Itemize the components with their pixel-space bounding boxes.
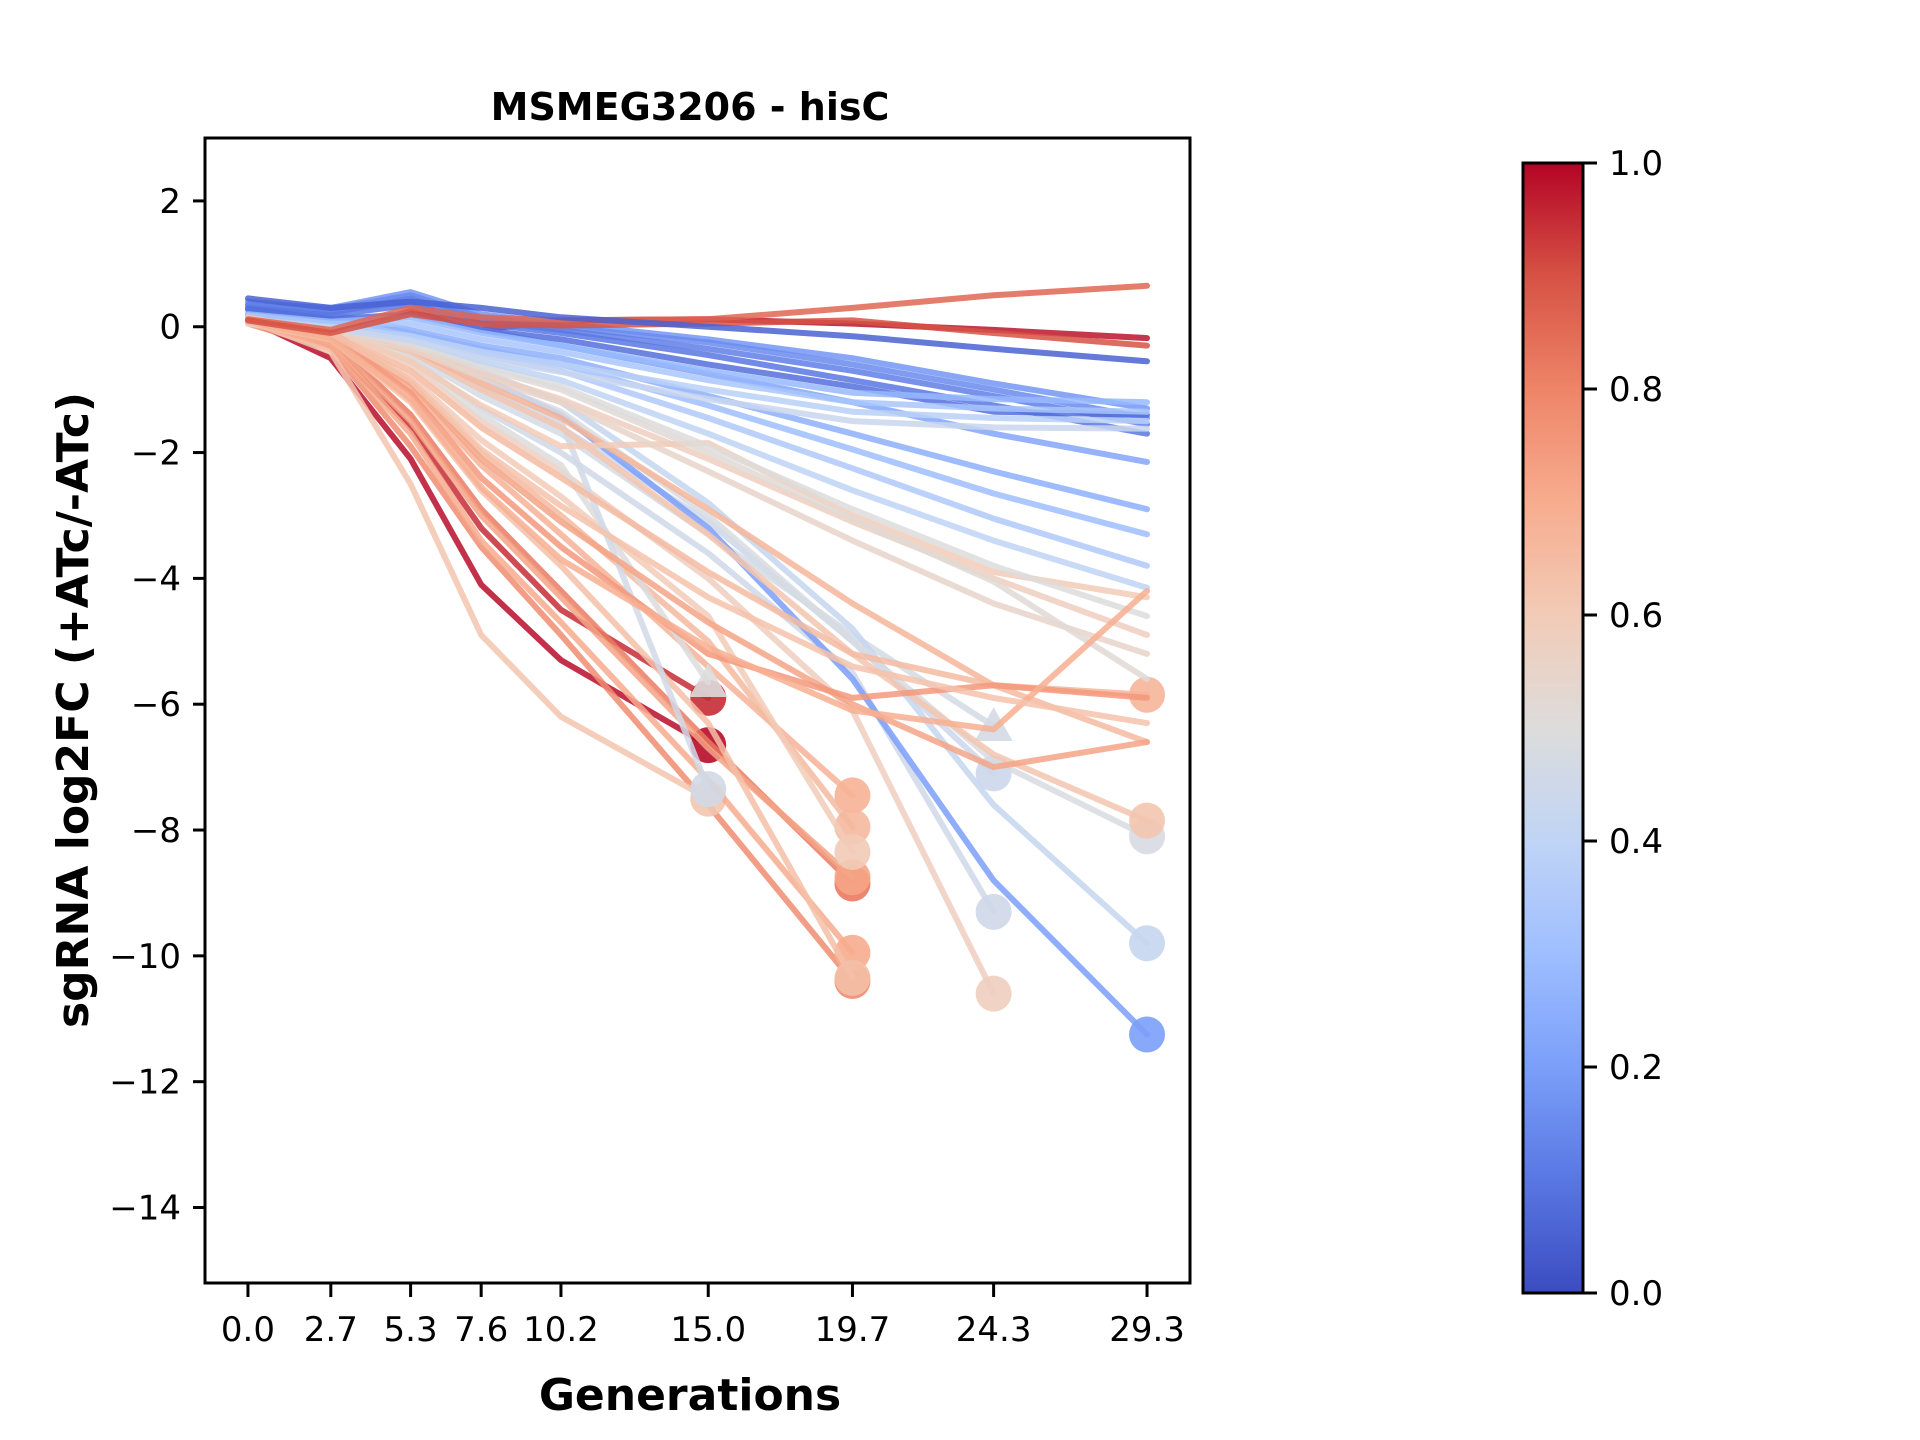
series-endpoint-circle-marker xyxy=(1129,803,1165,839)
series-endpoint-circle-marker xyxy=(976,976,1012,1012)
series-endpoint-circle-marker xyxy=(690,771,726,807)
x-tick-label: 7.6 xyxy=(454,1310,508,1350)
x-axis-label: Generations xyxy=(539,1370,841,1421)
y-tick-label: 0 xyxy=(159,308,181,348)
series-endpoint-circle-marker xyxy=(1129,925,1165,961)
colorbar-tick-label: 0.8 xyxy=(1609,370,1663,410)
x-tick-label: 24.3 xyxy=(956,1310,1032,1350)
colorbar-tick-label: 0.0 xyxy=(1609,1274,1663,1314)
colorbar-gradient xyxy=(1523,163,1583,1293)
colorbar-tick-label: 1.0 xyxy=(1609,144,1663,184)
series-endpoint-circle-marker xyxy=(1129,1016,1165,1052)
chart-title: MSMEG3206 - hisC xyxy=(491,85,890,129)
series-endpoint-circle-marker xyxy=(834,834,870,870)
y-tick-label: −10 xyxy=(109,937,181,977)
x-tick-label: 5.3 xyxy=(384,1310,438,1350)
y-axis-ticks: 20−2−4−6−8−10−12−14 xyxy=(109,182,205,1229)
x-tick-label: 29.3 xyxy=(1109,1310,1185,1350)
figure-canvas: MSMEG3206 - hisC 20−2−4−6−8−10−12−14 0.0… xyxy=(0,0,1920,1440)
x-axis-ticks: 0.02.75.37.610.215.019.724.329.3 xyxy=(221,1283,1185,1350)
colorbar-tick-label: 0.2 xyxy=(1609,1048,1663,1088)
colorbar-tick-label: 0.4 xyxy=(1609,822,1663,862)
x-tick-label: 19.7 xyxy=(815,1310,891,1350)
y-tick-label: −8 xyxy=(131,811,181,851)
colorbar-ticks: 0.00.20.40.60.81.0 xyxy=(1583,144,1663,1314)
x-tick-label: 2.7 xyxy=(304,1310,358,1350)
y-tick-label: −14 xyxy=(109,1189,181,1229)
y-tick-label: −6 xyxy=(131,685,181,725)
y-axis-label: sgRNA log2FC (+ATc/-ATc) xyxy=(48,392,99,1028)
series-endpoint-circle-marker xyxy=(976,894,1012,930)
x-tick-label: 10.2 xyxy=(523,1310,599,1350)
y-tick-label: −2 xyxy=(131,434,181,474)
x-tick-label: 0.0 xyxy=(221,1310,275,1350)
y-tick-label: −12 xyxy=(109,1063,181,1103)
y-tick-label: −4 xyxy=(131,559,181,599)
y-tick-label: 2 xyxy=(159,182,181,222)
x-tick-label: 15.0 xyxy=(670,1310,746,1350)
colorbar-tick-label: 0.6 xyxy=(1609,596,1663,636)
chart-svg: MSMEG3206 - hisC 20−2−4−6−8−10−12−14 0.0… xyxy=(0,0,1920,1440)
series-endpoint-circle-marker xyxy=(834,960,870,996)
